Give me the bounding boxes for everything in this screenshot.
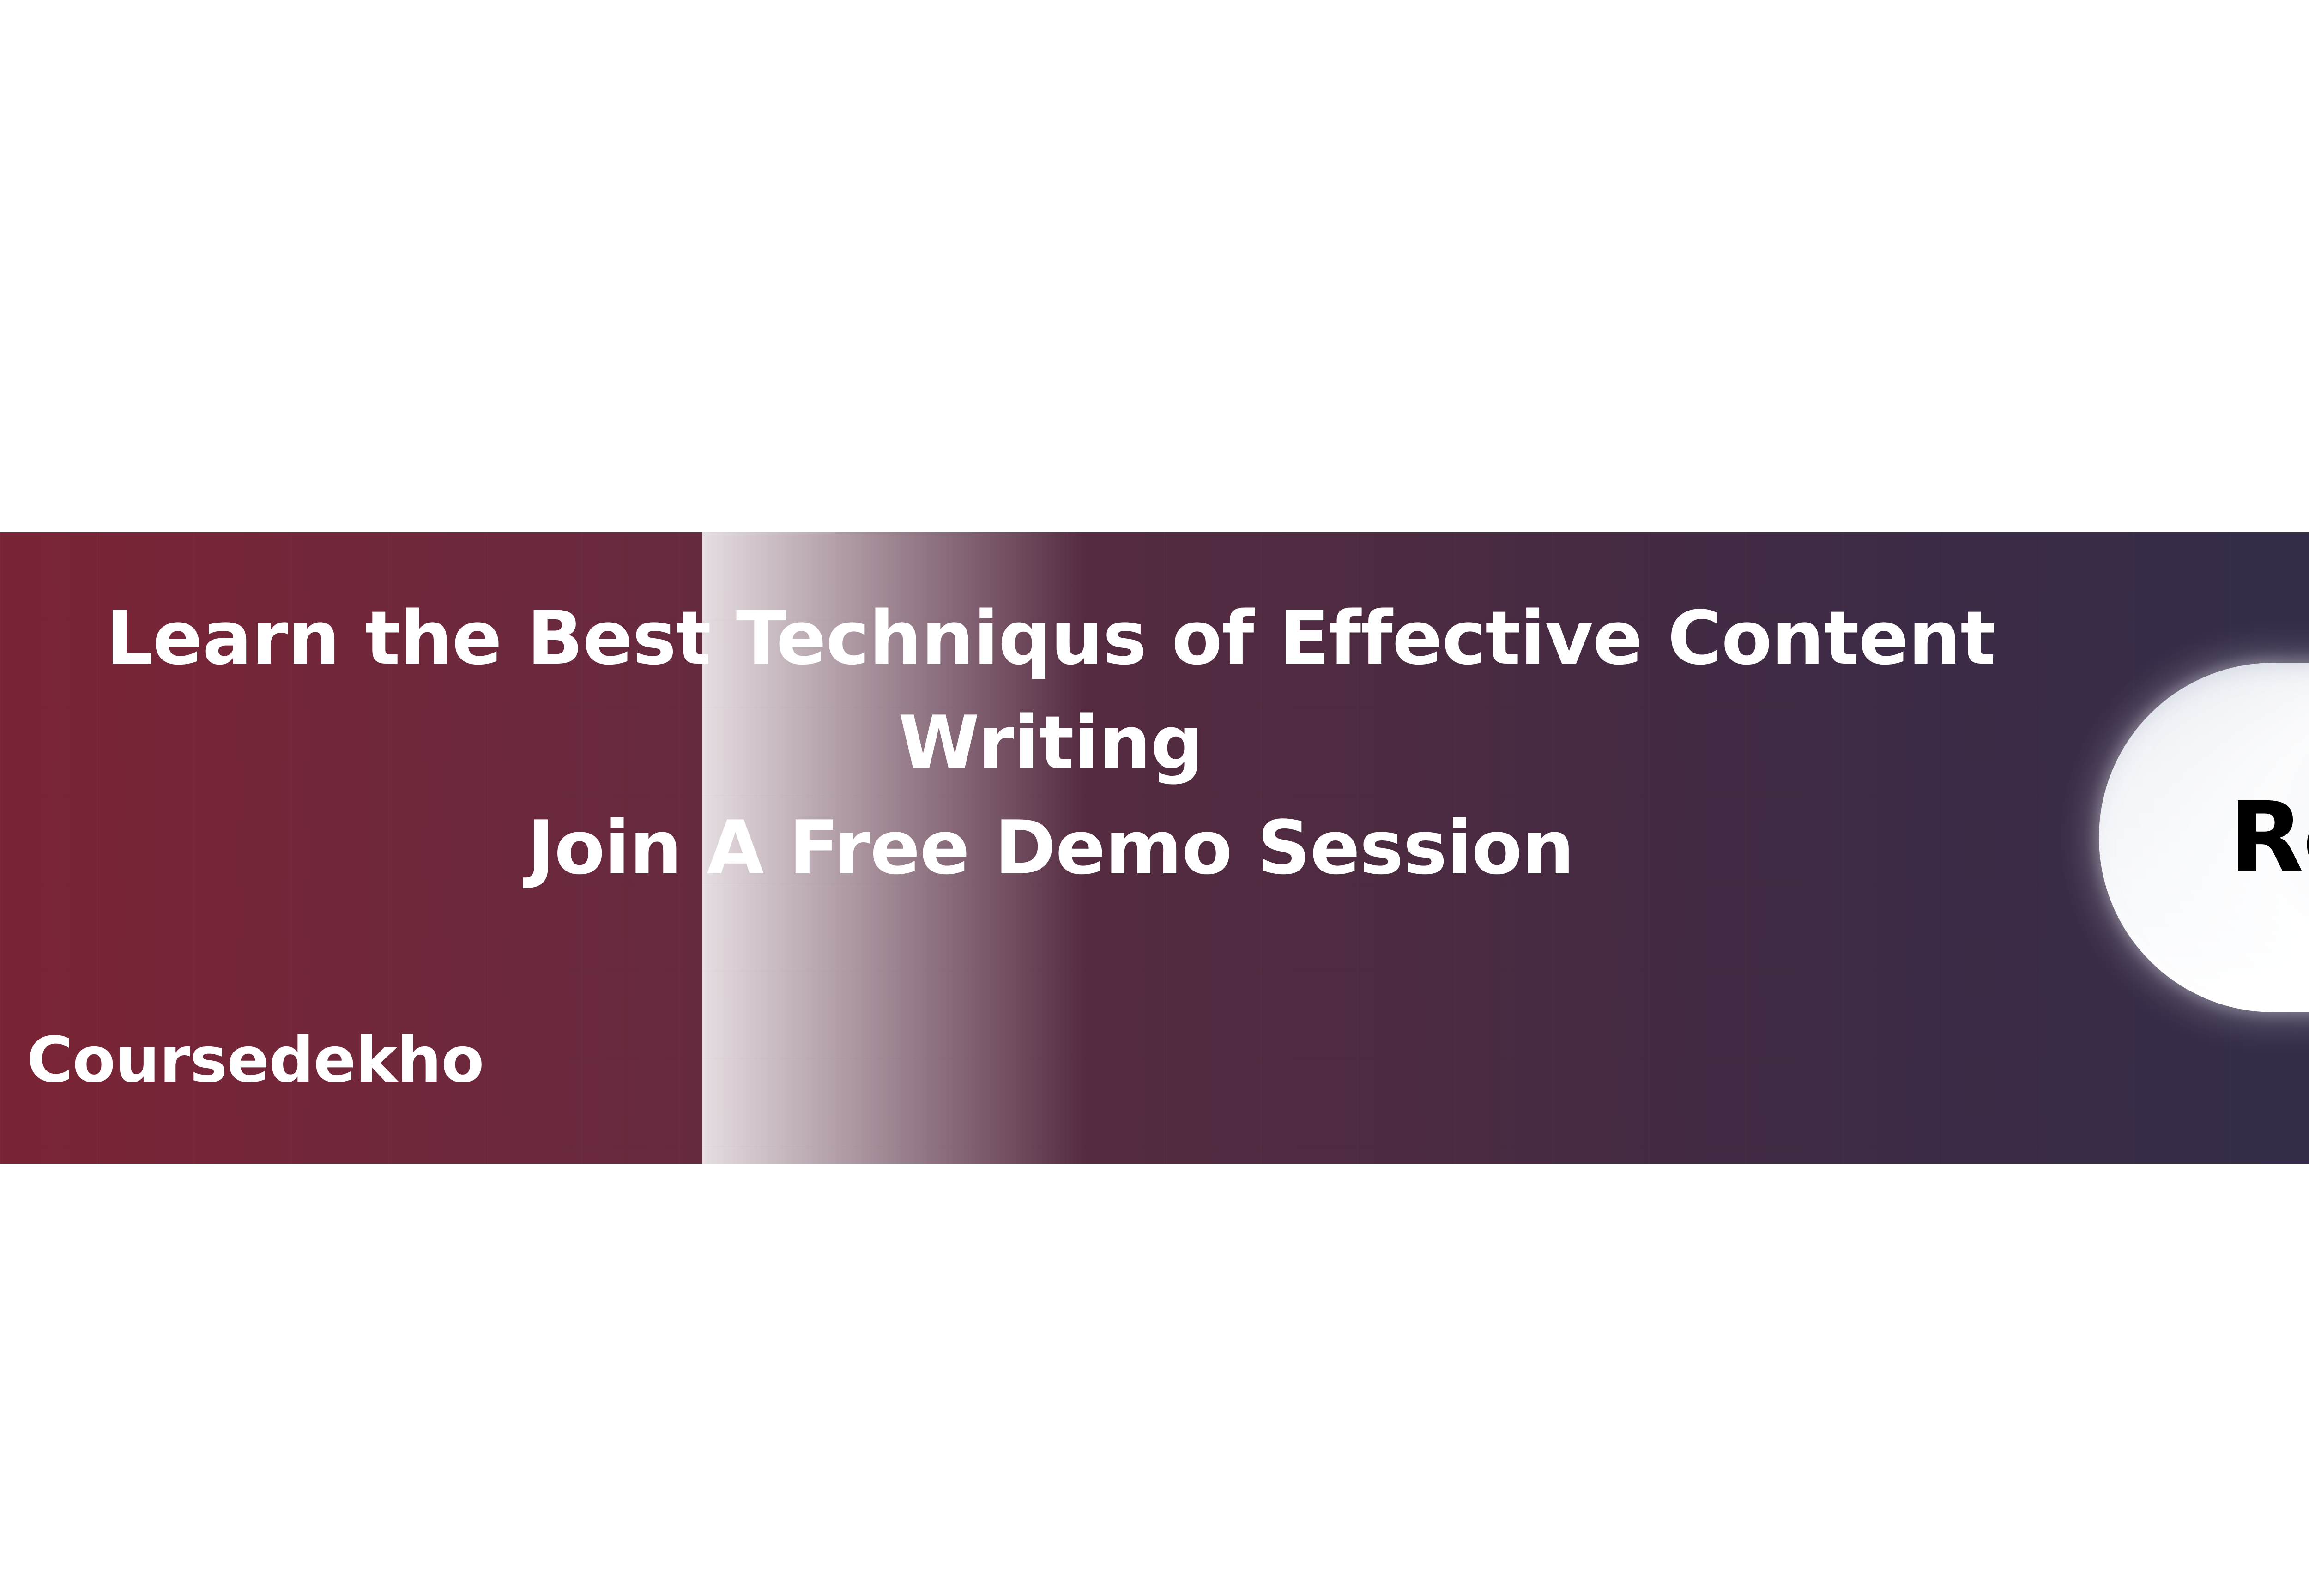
brand-wordmark: Coursedekho <box>27 1029 484 1092</box>
headline-line-2: Writing <box>51 690 2050 795</box>
banner-headline: Learn the Best Techniqus of Effective Co… <box>51 586 2050 901</box>
headline-line-1: Learn the Best Techniqus of Effective Co… <box>51 586 2050 690</box>
headline-line-3: Join A Free Demo Session <box>51 795 2050 900</box>
register-now-button[interactable]: Register Now <box>2099 663 2309 1012</box>
page-canvas: Learn the Best Techniqus of Effective Co… <box>0 0 2309 1596</box>
register-now-button-label: Register Now <box>2099 663 2309 1012</box>
promo-banner: Learn the Best Techniqus of Effective Co… <box>0 532 2309 1164</box>
